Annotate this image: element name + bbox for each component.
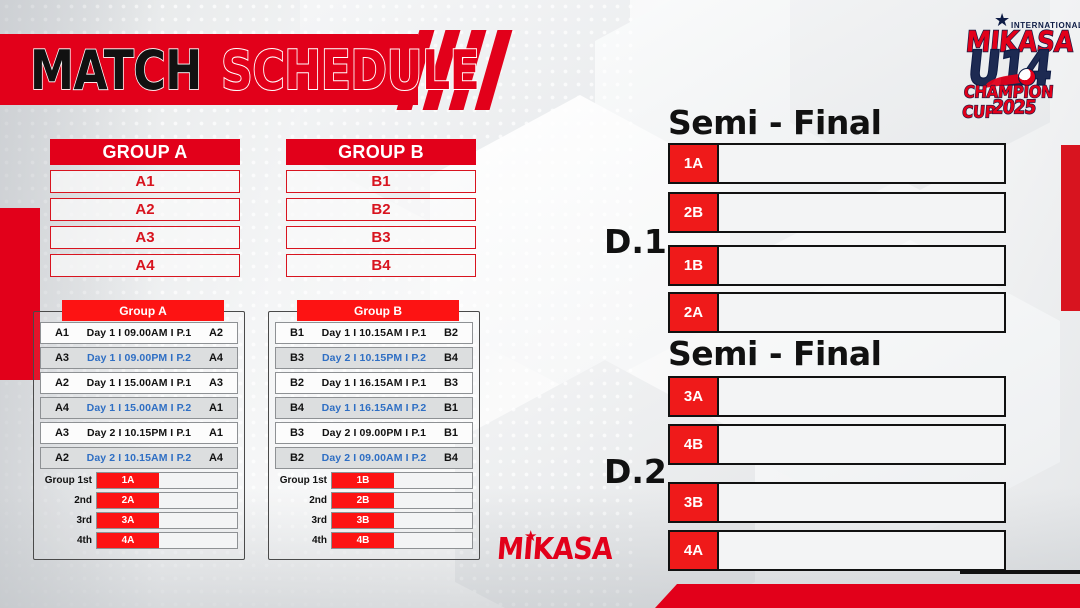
standing-bar: 3B	[331, 512, 473, 529]
schedule-panel-group-b: Group B B1 Day 1 I 10.15AM I P.1 B2 B3 D…	[268, 311, 480, 560]
bracket-slot-row[interactable]: 2A	[668, 292, 1006, 333]
match-away: A3	[201, 377, 231, 389]
standing-bar: 1A	[96, 472, 238, 489]
standing-bar: 3A	[96, 512, 238, 529]
standing-rank: 2nd	[275, 495, 331, 506]
bracket-slot-field[interactable]	[719, 294, 1004, 331]
table-row[interactable]: B3 Day 2 I 10.15PM I P.2 B4	[275, 347, 473, 369]
bracket-slot-code: 2A	[670, 294, 719, 331]
standing-code: 1A	[97, 473, 159, 488]
page-title: MATCH SCHEDULE	[30, 44, 490, 96]
standing-blank[interactable]	[394, 513, 472, 528]
standing-row[interactable]: 2nd 2A	[40, 492, 238, 509]
accent-bar-bottom	[655, 584, 1080, 608]
bracket-slot-row[interactable]: 4B	[668, 424, 1006, 465]
table-row[interactable]: A4 Day 1 I 15.00AM I P.2 A1	[40, 397, 238, 419]
standing-row[interactable]: Group 1st 1B	[275, 472, 473, 489]
group-b-header: GROUP B	[286, 139, 476, 165]
logo-year-text: 2025	[991, 97, 1037, 119]
bracket-slot-field[interactable]	[719, 378, 1004, 415]
accent-bar-right	[1061, 145, 1080, 311]
group-a-team-2[interactable]: A2	[50, 198, 240, 221]
match-home: B1	[282, 327, 312, 339]
bracket-slot-row[interactable]: 1B	[668, 245, 1006, 286]
match-detail: Day 1 I 16.15AM I P.2	[312, 402, 436, 414]
bracket-slot-row[interactable]: 2B	[668, 192, 1006, 233]
match-detail: Day 1 I 16.15AM I P.1	[312, 377, 436, 389]
match-away: A1	[201, 402, 231, 414]
match-home: B3	[282, 427, 312, 439]
bracket-slot-field[interactable]	[719, 484, 1004, 521]
match-home: B3	[282, 352, 312, 364]
match-away: A4	[201, 352, 231, 364]
standing-bar: 1B	[331, 472, 473, 489]
match-home: B2	[282, 377, 312, 389]
bracket-slot-field[interactable]	[719, 426, 1004, 463]
match-detail: Day 2 I 10.15PM I P.1	[77, 427, 201, 439]
match-detail: Day 2 I 10.15PM I P.2	[312, 352, 436, 364]
standing-blank[interactable]	[159, 513, 237, 528]
group-b-team-1[interactable]: B1	[286, 170, 476, 193]
standing-rank: 4th	[275, 535, 331, 546]
page-title-schedule: SCHEDULE	[221, 38, 479, 102]
match-detail: Day 1 I 09.00PM I P.2	[77, 352, 201, 364]
bracket-slot-code: 1A	[670, 145, 719, 182]
standing-code: 3A	[97, 513, 159, 528]
poster-canvas: MATCH SCHEDULE GROUP A A1 A2 A3 A4 GROUP…	[0, 0, 1080, 608]
bracket-day-label-1: D.1	[604, 222, 667, 261]
group-list-a: GROUP A A1 A2 A3 A4	[50, 139, 240, 277]
standing-code: 3B	[332, 513, 394, 528]
semifinal-2-title: Semi - Final	[668, 334, 881, 373]
bracket-slot-code: 2B	[670, 194, 719, 231]
match-home: A2	[47, 377, 77, 389]
table-row[interactable]: B4 Day 1 I 16.15AM I P.2 B1	[275, 397, 473, 419]
bracket-slot-row[interactable]: 3A	[668, 376, 1006, 417]
standing-bar: 2A	[96, 492, 238, 509]
match-home: A3	[47, 427, 77, 439]
match-detail: Day 2 I 10.15AM I P.2	[77, 452, 201, 464]
table-row[interactable]: B2 Day 2 I 09.00AM I P.2 B4	[275, 447, 473, 469]
bracket-slot-code: 3A	[670, 378, 719, 415]
match-detail: Day 1 I 15.00AM I P.2	[77, 402, 201, 414]
standing-row[interactable]: 2nd 2B	[275, 492, 473, 509]
match-away: B4	[436, 352, 466, 364]
table-row[interactable]: A3 Day 1 I 09.00PM I P.2 A4	[40, 347, 238, 369]
match-home: B2	[282, 452, 312, 464]
standing-blank[interactable]	[159, 533, 237, 548]
group-b-team-2[interactable]: B2	[286, 198, 476, 221]
standing-blank[interactable]	[394, 473, 472, 488]
bracket-slot-row[interactable]: 4A	[668, 530, 1006, 571]
group-a-header: GROUP A	[50, 139, 240, 165]
standing-row[interactable]: 4th 4A	[40, 532, 238, 549]
mikasa-wordmark: ★ MIKASA	[497, 534, 607, 570]
group-a-team-4[interactable]: A4	[50, 254, 240, 277]
table-row[interactable]: A2 Day 2 I 10.15AM I P.2 A4	[40, 447, 238, 469]
group-b-team-4[interactable]: B4	[286, 254, 476, 277]
semifinal-1-title: Semi - Final	[668, 103, 881, 142]
standing-bar: 4A	[96, 532, 238, 549]
match-home: A2	[47, 452, 77, 464]
match-away: B4	[436, 452, 466, 464]
match-away: A2	[201, 327, 231, 339]
table-row[interactable]: A2 Day 1 I 15.00AM I P.1 A3	[40, 372, 238, 394]
bracket-slot-row[interactable]: 3B	[668, 482, 1006, 523]
match-detail: Day 1 I 15.00AM I P.1	[77, 377, 201, 389]
match-away: A1	[201, 427, 231, 439]
match-away: B1	[436, 402, 466, 414]
standing-rank: 3rd	[275, 515, 331, 526]
bracket-slot-row[interactable]: 1A	[668, 143, 1006, 184]
bracket-slot-field[interactable]	[719, 145, 1004, 182]
standing-blank[interactable]	[394, 533, 472, 548]
standing-row[interactable]: 4th 4B	[275, 532, 473, 549]
standing-blank[interactable]	[159, 493, 237, 508]
standing-code: 4B	[332, 533, 394, 548]
match-detail: Day 2 I 09.00AM I P.2	[312, 452, 436, 464]
bracket-slot-code: 4A	[670, 532, 719, 569]
schedule-panel-group-a: Group A A1 Day 1 I 09.00AM I P.1 A2 A3 D…	[33, 311, 245, 560]
standing-bar: 4B	[331, 532, 473, 549]
match-away: B2	[436, 327, 466, 339]
standing-rank: Group 1st	[275, 475, 331, 486]
standing-row[interactable]: 3rd 3A	[40, 512, 238, 529]
bracket-slot-code: 1B	[670, 247, 719, 284]
match-away: B1	[436, 427, 466, 439]
match-home: B4	[282, 402, 312, 414]
bracket-day-label-2: D.2	[604, 452, 667, 491]
standing-rank: 2nd	[40, 495, 96, 506]
standing-row[interactable]: 3rd 3B	[275, 512, 473, 529]
table-row[interactable]: B3 Day 2 I 09.00PM I P.1 B1	[275, 422, 473, 444]
table-row[interactable]: A1 Day 1 I 09.00AM I P.1 A2	[40, 322, 238, 344]
group-a-team-3[interactable]: A3	[50, 226, 240, 249]
mikasa-wordmark-text: MIKASA	[496, 532, 614, 567]
standing-code: 4A	[97, 533, 159, 548]
schedule-a-title: Group A	[62, 300, 224, 321]
standing-blank[interactable]	[159, 473, 237, 488]
bracket-slot-code: 3B	[670, 484, 719, 521]
bracket-slot-code: 4B	[670, 426, 719, 463]
match-home: A1	[47, 327, 77, 339]
page-title-match: MATCH	[30, 38, 202, 102]
group-b-team-3[interactable]: B3	[286, 226, 476, 249]
match-away: B3	[436, 377, 466, 389]
standing-rank: Group 1st	[40, 475, 96, 486]
standing-rank: 4th	[40, 535, 96, 546]
bracket-slot-field[interactable]	[719, 194, 1004, 231]
standing-code: 2A	[97, 493, 159, 508]
event-logo: ★ INTERNATIONAL MIKASA U14 CHAMPION CUP …	[956, 4, 1074, 118]
match-away: A4	[201, 452, 231, 464]
standing-row[interactable]: Group 1st 1A	[40, 472, 238, 489]
match-detail: Day 1 I 09.00AM I P.1	[77, 327, 201, 339]
match-home: A3	[47, 352, 77, 364]
bracket-slot-field[interactable]	[719, 532, 1004, 569]
table-row[interactable]: B1 Day 1 I 10.15AM I P.1 B2	[275, 322, 473, 344]
standing-blank[interactable]	[394, 493, 472, 508]
group-a-team-1[interactable]: A1	[50, 170, 240, 193]
match-detail: Day 2 I 09.00PM I P.1	[312, 427, 436, 439]
match-home: A4	[47, 402, 77, 414]
group-list-b: GROUP B B1 B2 B3 B4	[286, 139, 476, 277]
bracket-slot-field[interactable]	[719, 247, 1004, 284]
match-detail: Day 1 I 10.15AM I P.1	[312, 327, 436, 339]
standing-bar: 2B	[331, 492, 473, 509]
schedule-b-title: Group B	[297, 300, 459, 321]
standing-code: 1B	[332, 473, 394, 488]
standing-code: 2B	[332, 493, 394, 508]
table-row[interactable]: A3 Day 2 I 10.15PM I P.1 A1	[40, 422, 238, 444]
table-row[interactable]: B2 Day 1 I 16.15AM I P.1 B3	[275, 372, 473, 394]
standing-rank: 3rd	[40, 515, 96, 526]
